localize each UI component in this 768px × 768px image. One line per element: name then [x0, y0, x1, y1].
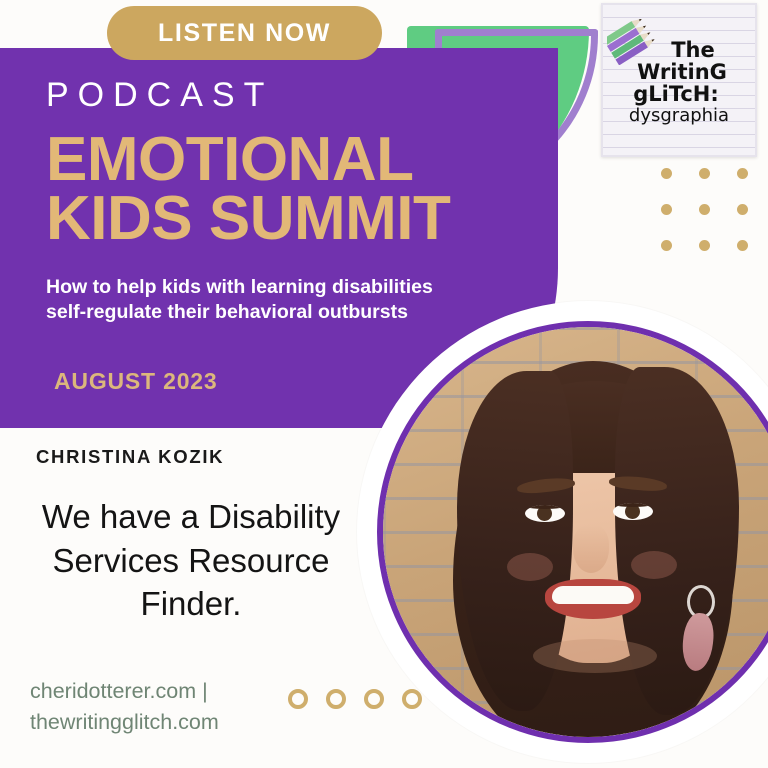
title-line-1: EMOTIONAL — [46, 130, 526, 190]
podcast-promo-graphic: LISTEN NOW PODCAST EMOTIONAL KIDS SUMMIT… — [0, 0, 768, 768]
podcast-kicker: PODCAST — [46, 78, 526, 114]
dot — [737, 204, 748, 215]
portrait-photo — [383, 327, 768, 737]
chin-shadow — [533, 639, 657, 673]
website-link-line-1: cheridotterer.com | — [30, 676, 219, 707]
logo-line-1: The — [671, 40, 715, 62]
eye-left — [525, 505, 565, 522]
logo-line-2: WritinG — [637, 62, 727, 84]
ring — [364, 689, 384, 709]
teeth — [552, 586, 634, 604]
ring — [288, 689, 308, 709]
dot — [661, 168, 672, 179]
episode-subtitle: How to help kids with learning disabilit… — [46, 275, 466, 326]
brand-logo-card[interactable]: The WritinG gLiTcH: dysgraphia — [601, 3, 757, 157]
guest-name: CHRISTINA KOZIK — [36, 446, 224, 468]
website-link-line-2: thewritingglitch.com — [30, 707, 219, 738]
brand-logo-text: The WritinG gLiTcH: dysgraphia — [603, 5, 755, 155]
website-links[interactable]: cheridotterer.com | thewritingglitch.com — [30, 676, 219, 737]
logo-line-3: gLiTcH: — [633, 84, 719, 106]
dot — [699, 240, 710, 251]
dot — [661, 204, 672, 215]
dot — [737, 240, 748, 251]
ring — [326, 689, 346, 709]
title-line-2: KIDS SUMMIT — [46, 189, 526, 249]
logo-line-4: dysgraphia — [629, 107, 729, 126]
nose — [573, 525, 609, 573]
eye-right — [613, 503, 653, 520]
listen-now-label: LISTEN NOW — [158, 19, 331, 48]
guest-avatar — [357, 301, 768, 763]
dot — [661, 240, 672, 251]
cheek-left — [507, 553, 553, 581]
guest-quote: We have a Disability Services Resource F… — [26, 495, 356, 626]
mouth — [545, 579, 641, 619]
cheek-right — [631, 551, 677, 579]
dot — [737, 168, 748, 179]
listen-now-button[interactable]: LISTEN NOW — [107, 6, 382, 60]
dot — [699, 168, 710, 179]
avatar-purple-ring — [377, 321, 768, 743]
gold-dot-grid-decoration — [661, 168, 768, 276]
dot — [699, 204, 710, 215]
